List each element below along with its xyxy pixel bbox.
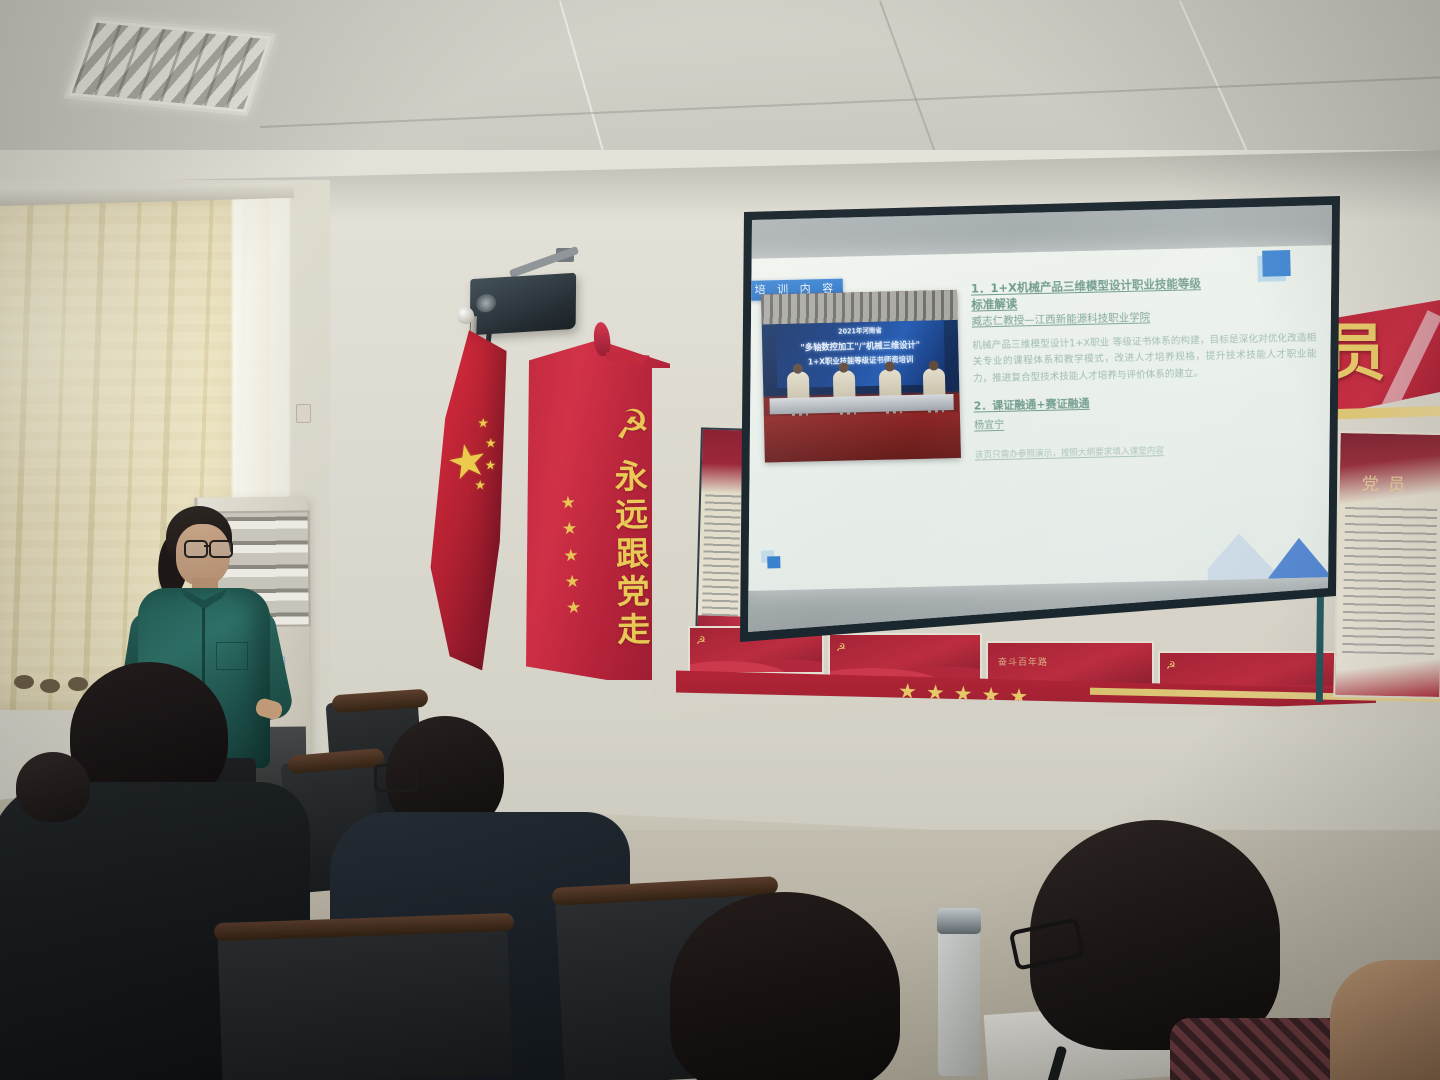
panel-table xyxy=(769,394,953,414)
flag-small-star: ★ xyxy=(474,478,486,491)
led-line-3: 1+X职业技能等级证书师资培训 xyxy=(783,353,938,368)
projector-icon xyxy=(470,273,576,336)
ceiling-light-panel-icon xyxy=(64,16,276,115)
flag-small-star: ★ xyxy=(477,416,489,429)
water-bottle-icon xyxy=(938,926,980,1076)
flag-finial xyxy=(457,307,474,324)
presentation-slide: 培 训 内 容 2021年河南省 "多轴数控加工"/"机械三维设计" 1+X职业… xyxy=(738,245,1342,591)
audience-member xyxy=(6,742,146,942)
led-line-1: 2021年河南省 xyxy=(783,324,938,338)
stage-carpet xyxy=(764,412,961,463)
audience-member xyxy=(1330,960,1440,1080)
slide-note: 该页只需办参照演示，按照大纲要求填入课堂内容 xyxy=(975,440,1319,460)
audience-member xyxy=(1020,820,1380,1080)
slide-mountain-graphic xyxy=(1206,517,1337,580)
slide-body-paragraph: 机械产品三维模型设计1+X职业 等级证书体系的构建，目标是深化对优化改造相关专业… xyxy=(972,330,1317,388)
wall-socket-icon xyxy=(296,404,311,423)
right-wall-poster: 党 员 xyxy=(1333,431,1440,699)
slide-accent-square-bottom-left xyxy=(767,556,780,568)
audience-member xyxy=(620,886,960,1080)
chair xyxy=(217,925,512,1080)
slide-accent-square-top-right xyxy=(1262,250,1291,277)
eyeglasses-icon xyxy=(374,764,418,792)
audience-head xyxy=(16,752,90,822)
slide-surface: 培 训 内 容 2021年河南省 "多轴数控加工"/"机械三维设计" 1+X职业… xyxy=(736,196,1344,642)
projection-screen: 培 训 内 容 2021年河南省 "多轴数控加工"/"机械三维设计" 1+X职业… xyxy=(736,196,1344,642)
presentation-room-photo: ★ ★ ★ ★ ★ ☭ ★★★★★ 永远跟党走 ☭ ☭ 奋斗百年路 ☭ ★★★★… xyxy=(0,0,1440,1080)
audience-head xyxy=(670,892,900,1080)
audience-head xyxy=(1330,960,1440,1080)
slide-text-column: 1．1+X机械产品三维模型设计职业技能等级 标准解读 臧志仁教授—江西新能源科技… xyxy=(971,273,1319,460)
led-line-2: "多轴数控加工"/"机械三维设计" xyxy=(783,337,938,354)
wall-panel: ☭ xyxy=(828,633,982,681)
eyeglasses-icon xyxy=(184,540,232,555)
slide-embedded-photo: 2021年河南省 "多轴数控加工"/"机械三维设计" 1+X职业技能等级证书师资… xyxy=(761,290,961,463)
